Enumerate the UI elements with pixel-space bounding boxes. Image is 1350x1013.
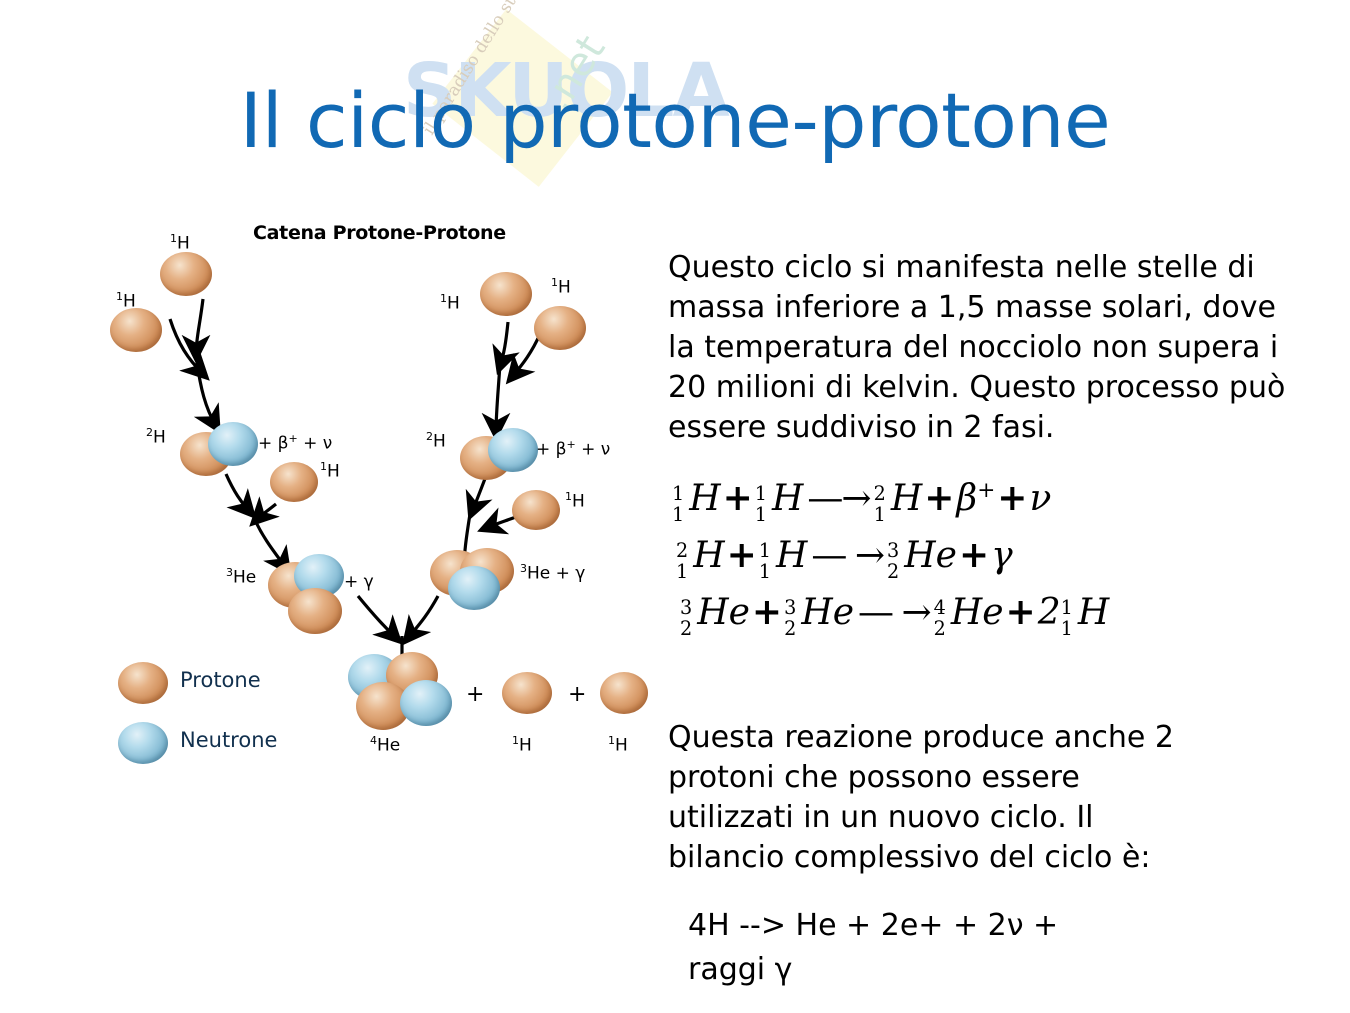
legend-proton-swatch (118, 662, 168, 704)
eq2-term-2: 11H (759, 528, 808, 584)
proton-sphere (480, 272, 532, 316)
eq2-term-1: 21H (676, 528, 725, 584)
intro-paragraph: Questo ciclo si manifesta nelle stelle d… (668, 248, 1308, 448)
eq3-term-4: 211H (1038, 585, 1110, 641)
nucleus-label-h1-top-right-b: 1H (551, 276, 571, 297)
proton-sphere (534, 306, 586, 350)
legend-label-neutron: Neutrone (180, 728, 277, 752)
equation-step-3: 32He+32He— →42He+211H (680, 584, 1230, 641)
proton-proton-chain-diagram: Catena Protone-Protone (108, 214, 648, 890)
nucleus-label-he3-left: 3He (226, 566, 256, 587)
nucleus-label-h2-left: 2H (146, 426, 166, 447)
equation-step-2: 21H+11H— →32He+γ (676, 527, 1230, 584)
proton-sphere (110, 308, 162, 352)
proton-sphere (270, 462, 318, 502)
eq3-term-3: 42He (934, 585, 1004, 641)
gamma-label-left: + γ (344, 572, 374, 592)
proton-sphere (288, 588, 342, 634)
decay-products-left: + β+ + ν (258, 432, 332, 454)
equation-step-1: 11H+11H—→21H+β++ν (672, 463, 1230, 527)
neutron-sphere (400, 680, 452, 726)
proton-sphere (512, 490, 560, 530)
eq3-term-2: 32He (784, 585, 854, 641)
legend-neutron-swatch (118, 722, 168, 764)
balance-equation-line-1: 4H --> He + 2e+ + 2ν + (688, 904, 1288, 948)
proton-sphere (600, 672, 648, 714)
decay-products-right: + β+ + ν (536, 438, 610, 460)
neutron-sphere (448, 566, 500, 610)
legend-label-proton: Protone (180, 668, 261, 692)
eq1-term-2: 11H (755, 471, 804, 527)
nucleus-label-h1-top-left-b: 1H (170, 232, 190, 253)
conclusion-paragraph: Questa reazione produce anche 2 protoni … (668, 718, 1188, 878)
nucleus-label-he4: 4He (370, 734, 400, 755)
neutron-sphere (488, 428, 538, 472)
neutron-sphere (208, 422, 258, 466)
proton-sphere (160, 252, 212, 296)
proton-sphere (502, 672, 552, 714)
eq2-term-3: 32He (887, 528, 957, 584)
nucleus-label-h1-out-b: 1H (608, 734, 628, 755)
reaction-equations: 11H+11H—→21H+β++ν 21H+11H— →32He+γ 32He+… (670, 463, 1230, 641)
nucleus-label-h1-mid-left: 1H (320, 460, 340, 481)
nucleus-label-h2-right: 2H (426, 430, 446, 451)
balance-equation-line-2: raggi γ (688, 948, 1288, 992)
eq3-term-1: 32He (680, 585, 750, 641)
nucleus-label-h1-out-a: 1H (512, 734, 532, 755)
nucleus-label-h1-top-right-a: 1H (440, 292, 460, 313)
eq1-term-1: 11H (672, 471, 721, 527)
nucleus-label-h1-mid-right: 1H (565, 490, 585, 511)
page-title: Il ciclo protone-protone (0, 78, 1350, 164)
nucleus-label-he3-right: 3He + γ (520, 562, 585, 583)
eq1-term-3: 21H (874, 471, 923, 527)
overall-balance-equation: 4H --> He + 2e+ + 2ν + raggi γ (688, 904, 1288, 992)
plus-sign-a: + (466, 682, 484, 707)
plus-sign-b: + (568, 682, 586, 707)
